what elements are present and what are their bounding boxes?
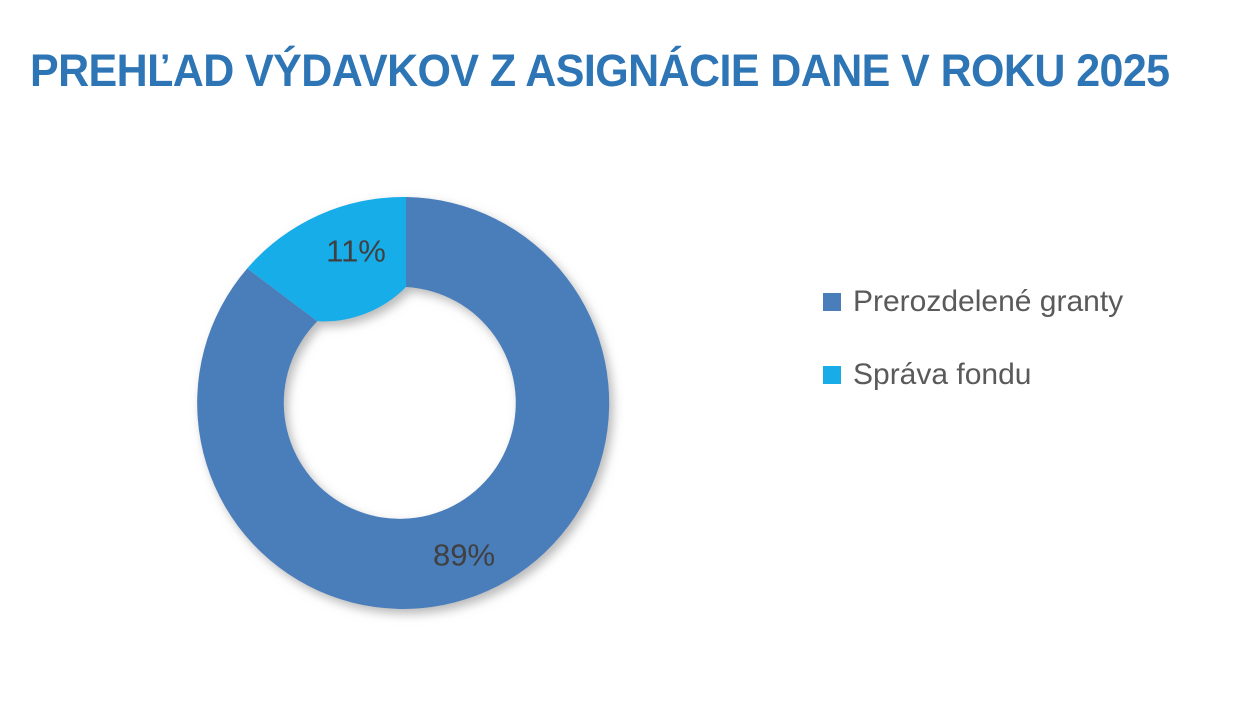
legend-label-sprava-fondu: Správa fondu <box>853 360 1031 390</box>
chart-legend: Prerozdelené granty Správa fondu <box>823 288 1183 389</box>
donut-chart-plot-area: 11% 89% <box>190 187 626 623</box>
legend-item-prerozdelene-granty[interactable]: Prerozdelené granty <box>823 288 1183 316</box>
legend-item-sprava-fondu[interactable]: Správa fondu <box>823 361 1183 389</box>
legend-swatch-sprava-fondu <box>823 366 841 384</box>
legend-swatch-prerozdelene-granty <box>823 293 841 311</box>
legend-label-prerozdelene-granty: Prerozdelené granty <box>853 287 1123 317</box>
chart-canvas: PREHĽAD VÝDAVKOV Z ASIGNÁCIE DANE V ROKU… <box>0 0 1245 701</box>
chart-title: PREHĽAD VÝDAVKOV Z ASIGNÁCIE DANE V ROKU… <box>30 48 1170 93</box>
donut-chart-svg <box>190 187 626 623</box>
